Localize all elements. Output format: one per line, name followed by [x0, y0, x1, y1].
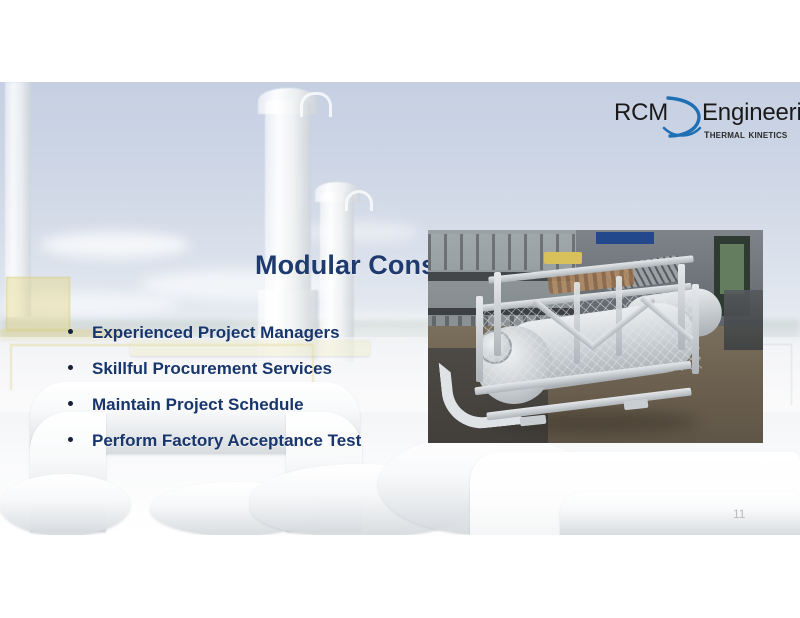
background-pipe-icon	[300, 92, 332, 117]
blue-arc-swoosh-icon	[660, 94, 708, 142]
bullet-dot-icon	[68, 365, 73, 370]
cloud-shape	[40, 232, 190, 258]
photo-frame-post	[476, 296, 483, 382]
photo-frame-post	[494, 272, 501, 356]
photo-background-equipment	[724, 290, 763, 350]
photo-skid-frame	[466, 262, 704, 410]
logo-tagline: Thermal Kinetics	[704, 126, 787, 141]
photo-frame-post	[616, 276, 622, 356]
bullet-dot-icon	[68, 401, 73, 406]
list-item: Skillful Procurement Services	[62, 356, 422, 392]
list-item: Perform Factory Acceptance Test	[62, 428, 422, 464]
photo-frame-post	[692, 284, 699, 374]
page-number: 11	[733, 507, 745, 521]
cloud-shape	[300, 222, 420, 242]
company-logo: RCM Engineering Thermal Kinetics	[608, 97, 793, 149]
bullet-item-label: Experienced Project Managers	[92, 320, 340, 346]
bullet-dot-icon	[68, 437, 73, 442]
list-item: Maintain Project Schedule	[62, 392, 422, 428]
background-yellow-structure	[6, 277, 70, 331]
background-pipe-icon	[0, 474, 130, 535]
bullet-item-label: Skillful Procurement Services	[92, 356, 332, 382]
bullet-list: Experienced Project Managers Skillful Pr…	[62, 320, 422, 464]
modular-skid-photo	[428, 230, 763, 443]
background-pipe-icon	[345, 190, 373, 211]
bullet-item-label: Perform Factory Acceptance Test	[92, 428, 361, 454]
photo-blue-beam	[596, 232, 654, 244]
photo-door-daylight	[720, 244, 744, 294]
photo-frame-post	[574, 282, 580, 364]
list-item: Experienced Project Managers	[62, 320, 422, 356]
background-pipe-icon	[560, 492, 800, 535]
bullet-dot-icon	[68, 329, 73, 334]
bullet-item-label: Maintain Project Schedule	[92, 392, 304, 418]
logo-secondary-text: Engineering	[702, 99, 800, 127]
slide-canvas: RCM Engineering Thermal Kinetics Modular…	[0, 82, 800, 535]
